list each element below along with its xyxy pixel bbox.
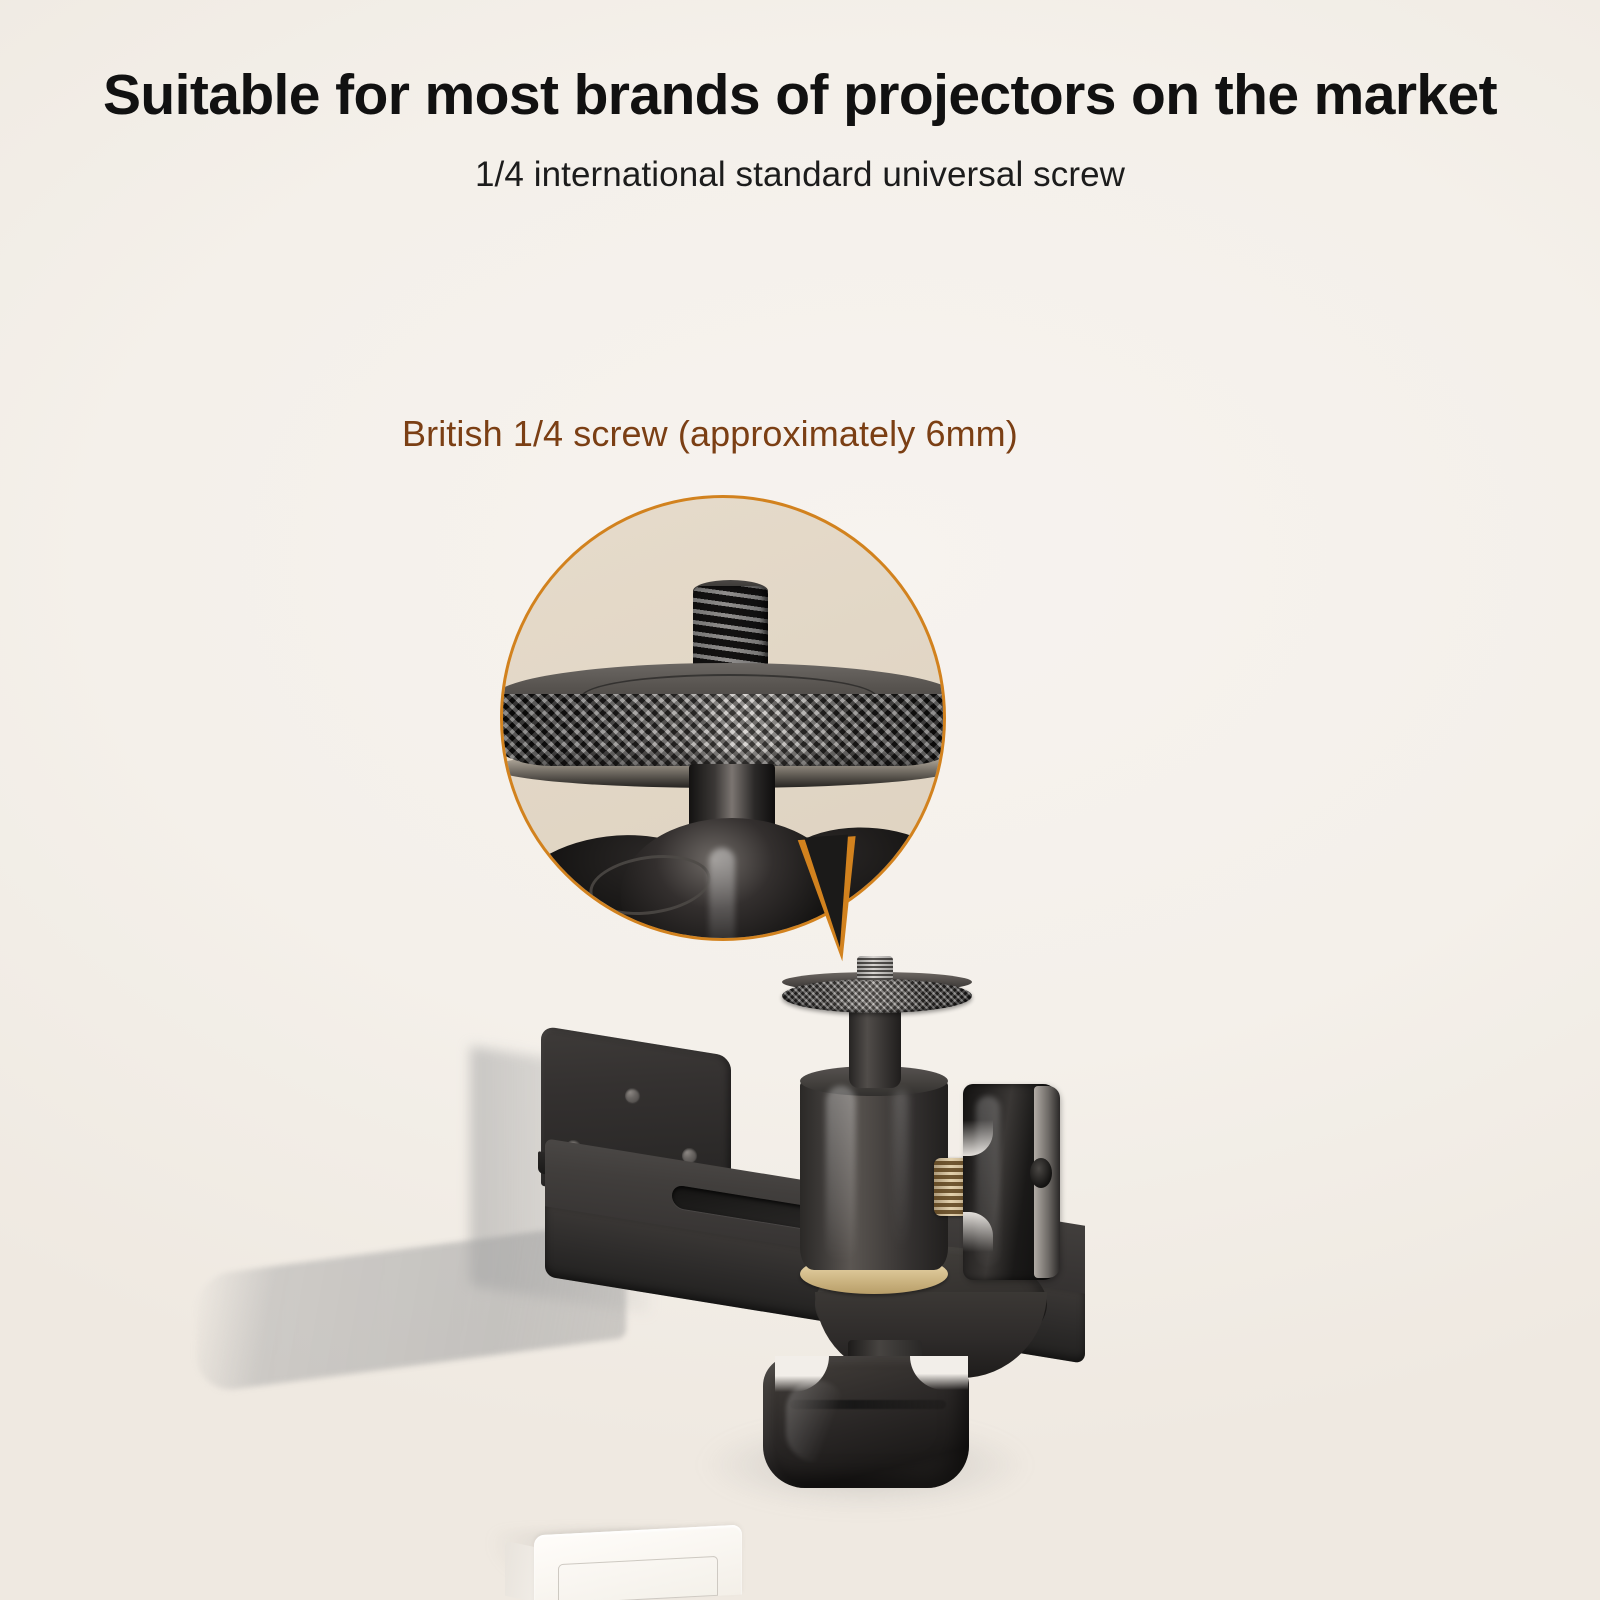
page-title: Suitable for most brands of projectors o… bbox=[0, 62, 1600, 128]
callout-circle bbox=[500, 495, 946, 941]
side-knob-hole bbox=[1030, 1158, 1052, 1188]
cylinder-highlight bbox=[826, 1086, 856, 1262]
callout-pointer bbox=[804, 835, 856, 950]
page-subtitle: 1/4 international standard universal scr… bbox=[0, 155, 1600, 195]
ball-head-neck bbox=[849, 1008, 901, 1088]
wall-switch-button bbox=[558, 1556, 718, 1600]
knurled-mount-ring bbox=[782, 979, 972, 1013]
mount-hole-icon bbox=[625, 1088, 640, 1103]
cylinder-highlight bbox=[893, 1090, 909, 1250]
callout-label: British 1/4 screw (approximately 6mm) bbox=[402, 413, 1018, 455]
product-marketing-image: Suitable for most brands of projectors o… bbox=[0, 0, 1600, 1600]
side-knob-highlight bbox=[976, 1096, 1000, 1266]
magnifier-callout bbox=[470, 470, 990, 970]
ball-head-cylinder bbox=[800, 1080, 948, 1270]
zoom-ball-highlight bbox=[709, 848, 735, 941]
bottom-knob-highlight bbox=[786, 1380, 846, 1462]
